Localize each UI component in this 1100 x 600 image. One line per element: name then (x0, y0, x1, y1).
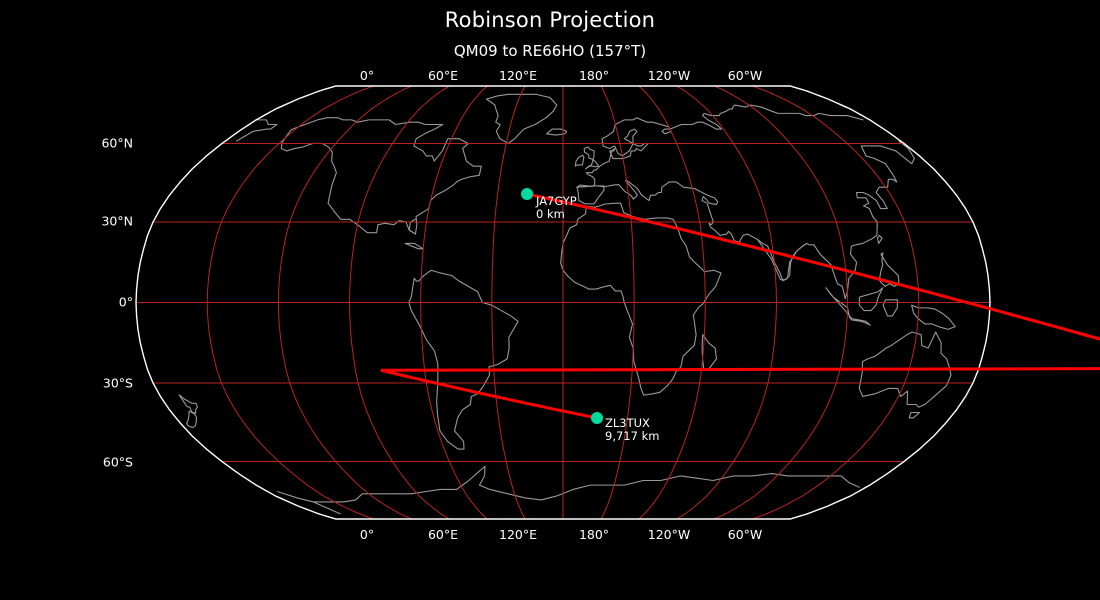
marker-callsign-origin: JA7GYP (536, 194, 577, 208)
marker-annotation-origin: JA7GYP 0 km (536, 195, 577, 221)
marker-distance-destination: 9,717 km (605, 430, 659, 443)
lon-tick-label: 180° (579, 527, 609, 542)
lat-tick-label: 30°S (103, 376, 133, 391)
robinson-map-canvas (0, 0, 1100, 600)
marker-annotation-destination: ZL3TUX 9,717 km (605, 417, 659, 443)
lon-tick-label: 60°E (428, 527, 458, 542)
lon-tick-label: 120°E (499, 527, 537, 542)
lat-tick-label: 30°N (101, 214, 133, 229)
marker-origin[interactable] (521, 188, 533, 200)
marker-callsign-destination: ZL3TUX (605, 416, 650, 430)
lon-tick-label: 120°W (648, 527, 690, 542)
lat-tick-label: 60°S (103, 455, 133, 470)
lon-tick-label: 180° (579, 68, 609, 83)
lon-tick-label: 60°W (728, 527, 763, 542)
lat-tick-label: 0° (119, 295, 133, 310)
lon-tick-label: 0° (360, 527, 374, 542)
lon-tick-label: 120°W (648, 68, 690, 83)
marker-distance-origin: 0 km (536, 208, 577, 221)
lon-tick-label: 60°E (428, 68, 458, 83)
lon-tick-label: 0° (360, 68, 374, 83)
lon-tick-label: 120°E (499, 68, 537, 83)
marker-destination[interactable] (591, 412, 603, 424)
map-figure: Robinson Projection QM09 to RE66HO (157°… (0, 0, 1100, 600)
lon-tick-label: 60°W (728, 68, 763, 83)
lat-tick-label: 60°N (101, 136, 133, 151)
